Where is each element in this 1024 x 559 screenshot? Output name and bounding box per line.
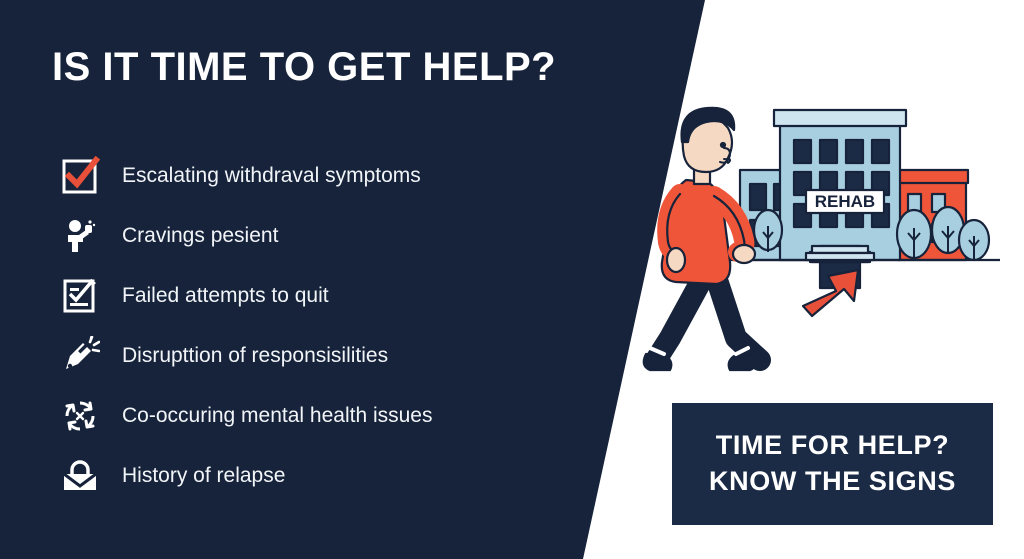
list-item-label: Escalating withdraval symptoms [122,164,421,187]
list-item: Failed attempts to quit [56,266,576,326]
rehab-sign-text: REHAB [815,192,875,211]
envelope-lock-icon [56,454,104,498]
checkbox-checked-icon [56,154,104,198]
cycle-arrows-icon [56,394,104,438]
caption-banner: TIME FOR HELP? KNOW THE SIGNS [672,403,993,525]
list-item-label: History of relapse [122,464,285,487]
list-item-label: Co-occuring mental health issues [122,404,433,427]
list-item: Cravings pesient [56,206,576,266]
warning-signs-list: Escalating withdraval symptoms Cravings … [56,146,576,506]
clipboard-check-icon [56,274,104,318]
person-craving-icon [56,214,104,258]
list-item-label: Disrupttion of responsisilities [122,344,388,367]
list-item-label: Failed attempts to quit [122,284,329,307]
page-title: IS IT TIME TO GET HELP? [52,46,652,88]
infographic-canvas: IS IT TIME TO GET HELP? Escalating withd… [0,0,1024,559]
caption-line-1: TIME FOR HELP? [716,428,949,464]
red-arrow-icon [803,270,858,316]
list-item: History of relapse [56,446,576,506]
list-item: Escalating withdraval symptoms [56,146,576,206]
list-item: Disrupttion of responsisilities [56,326,576,386]
broken-item-icon [56,334,104,378]
rehab-illustration: REHAB [640,48,1024,393]
caption-line-2: KNOW THE SIGNS [709,464,956,500]
list-item-label: Cravings pesient [122,224,278,247]
list-item: Co-occuring mental health issues [56,386,576,446]
